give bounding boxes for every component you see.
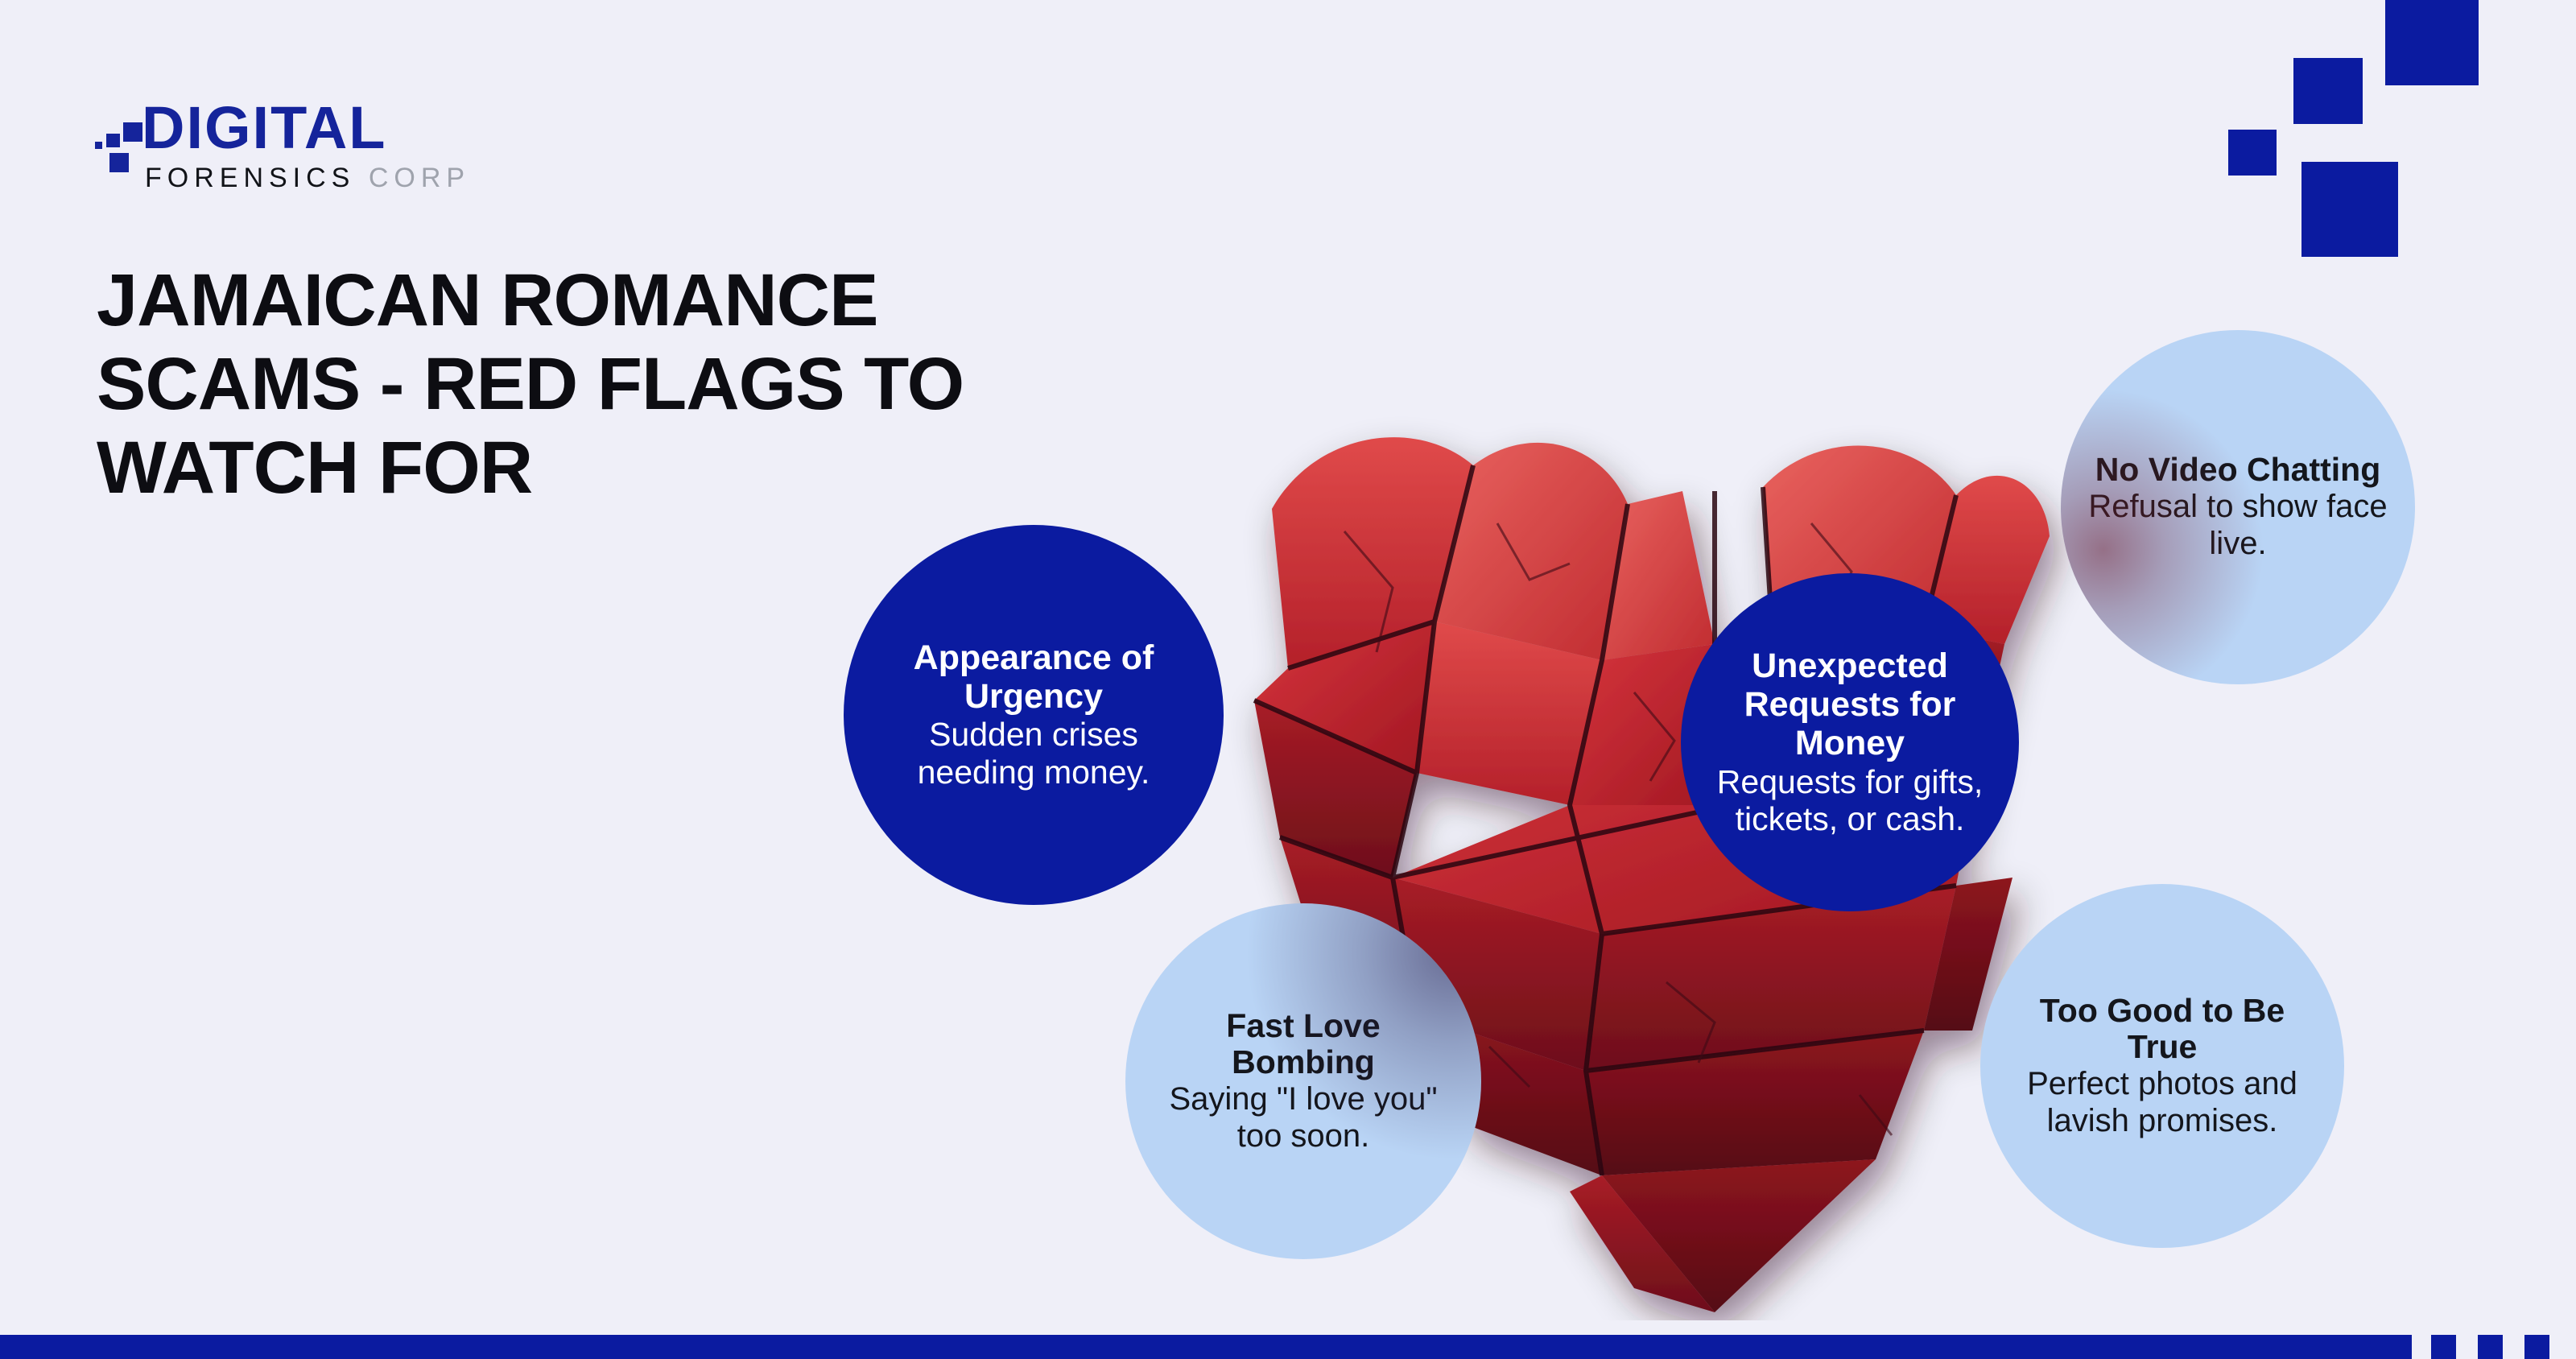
badge-too-good-to-be-true[interactable]: Too Good to Be True Perfect photos and l… xyxy=(1980,884,2344,1248)
badge-too-good-to-be-true-title: Too Good to Be True xyxy=(2008,993,2317,1067)
brand-logo: DIGITAL FORENSICS CORP xyxy=(95,98,514,195)
decorative-square-medium xyxy=(2293,58,2363,124)
page-title-line-2: SCAMS - RED FLAGS TO xyxy=(97,343,1240,427)
badge-urgency[interactable]: Appearance of Urgency Sudden crises need… xyxy=(844,525,1224,905)
badge-fast-love-bombing-description: Saying "I love you" too soon. xyxy=(1153,1081,1454,1155)
footer-dash-2 xyxy=(2478,1335,2503,1359)
badge-money-requests-title: Unexpected Requests for Money xyxy=(1708,646,1992,762)
badge-fast-love-bombing-title: Fast Love Bombing xyxy=(1153,1008,1454,1082)
badge-money-requests-description: Requests for gifts, tickets, or cash. xyxy=(1708,763,1992,838)
decorative-square-large xyxy=(2385,0,2479,85)
logo-wordmark: DIGITAL xyxy=(142,98,386,158)
badge-urgency-description: Sudden crises needing money. xyxy=(871,716,1196,791)
page-title-line-3: WATCH FOR xyxy=(97,427,1240,510)
page-title: JAMAICAN ROMANCE SCAMS - RED FLAGS TO WA… xyxy=(97,259,1240,510)
badge-no-video-chatting[interactable]: No Video Chatting Refusal to show face l… xyxy=(2061,330,2415,684)
badge-too-good-to-be-true-description: Perfect photos and lavish promises. xyxy=(2008,1066,2317,1139)
logo-tagline-primary: FORENSICS xyxy=(145,163,355,193)
badge-fast-love-bombing[interactable]: Fast Love Bombing Saying "I love you" to… xyxy=(1125,903,1481,1259)
page-title-line-1: JAMAICAN ROMANCE xyxy=(97,259,1240,343)
decorative-square-small xyxy=(2228,130,2277,176)
footer-dash-3 xyxy=(2524,1335,2549,1359)
footer-dash-1 xyxy=(2431,1335,2456,1359)
infographic-canvas: DIGITAL FORENSICS CORP JAMAICAN ROMANCE … xyxy=(0,0,2576,1359)
logo-tagline-secondary: CORP xyxy=(369,163,470,193)
footer-bar xyxy=(0,1335,2412,1359)
badge-no-video-chatting-title: No Video Chatting xyxy=(2088,452,2388,489)
decorative-square-bottom xyxy=(2301,162,2398,257)
badge-no-video-chatting-description: Refusal to show face live. xyxy=(2088,489,2388,562)
logo-tagline: FORENSICS CORP xyxy=(145,164,470,192)
badge-urgency-title: Appearance of Urgency xyxy=(871,638,1196,716)
badge-money-requests[interactable]: Unexpected Requests for Money Requests f… xyxy=(1681,573,2019,911)
